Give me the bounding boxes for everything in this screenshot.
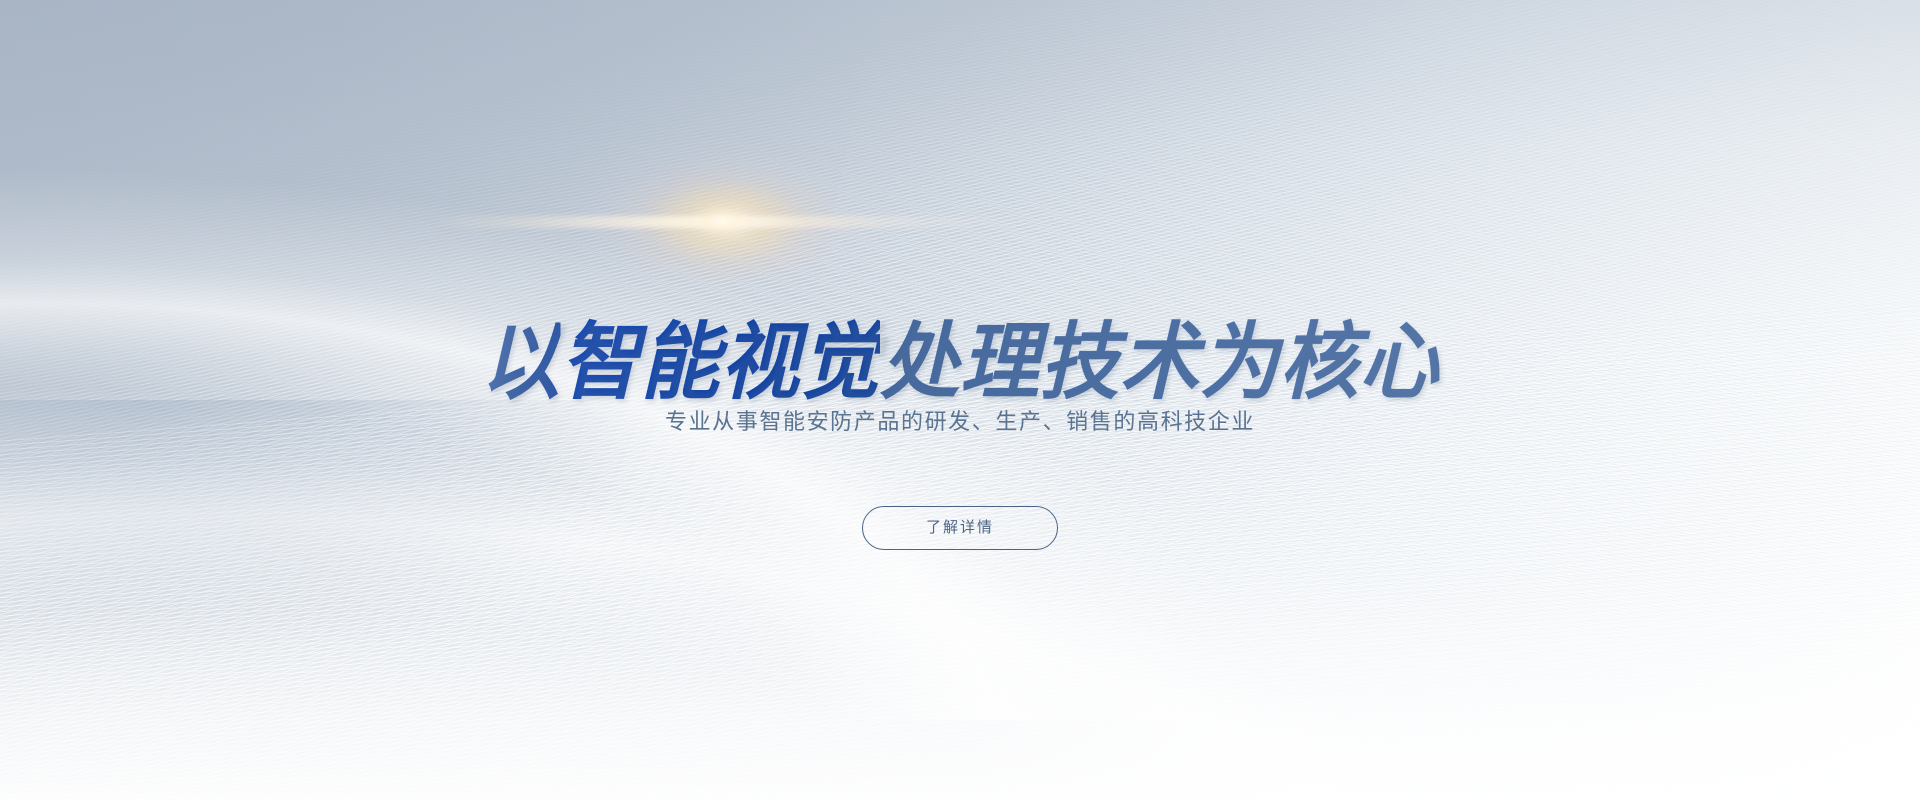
hero-banner: 以智能视觉处理技术为核心 专业从事智能安防产品的研发、生产、销售的高科技企业 了…: [0, 0, 1920, 800]
headline-segment-tail: 处理技术为核心: [880, 315, 1439, 409]
hero-subtitle: 专业从事智能安防产品的研发、生产、销售的高科技企业: [0, 406, 1920, 438]
learn-more-button[interactable]: 了解详情: [862, 506, 1058, 550]
headline-segment-lead: 以: [481, 315, 561, 409]
headline-segment-accent: 智能视觉: [560, 315, 880, 409]
hero-headline: 以智能视觉处理技术为核心: [58, 314, 1863, 410]
hero-content: 以智能视觉处理技术为核心 专业从事智能安防产品的研发、生产、销售的高科技企业 了…: [0, 0, 1920, 800]
